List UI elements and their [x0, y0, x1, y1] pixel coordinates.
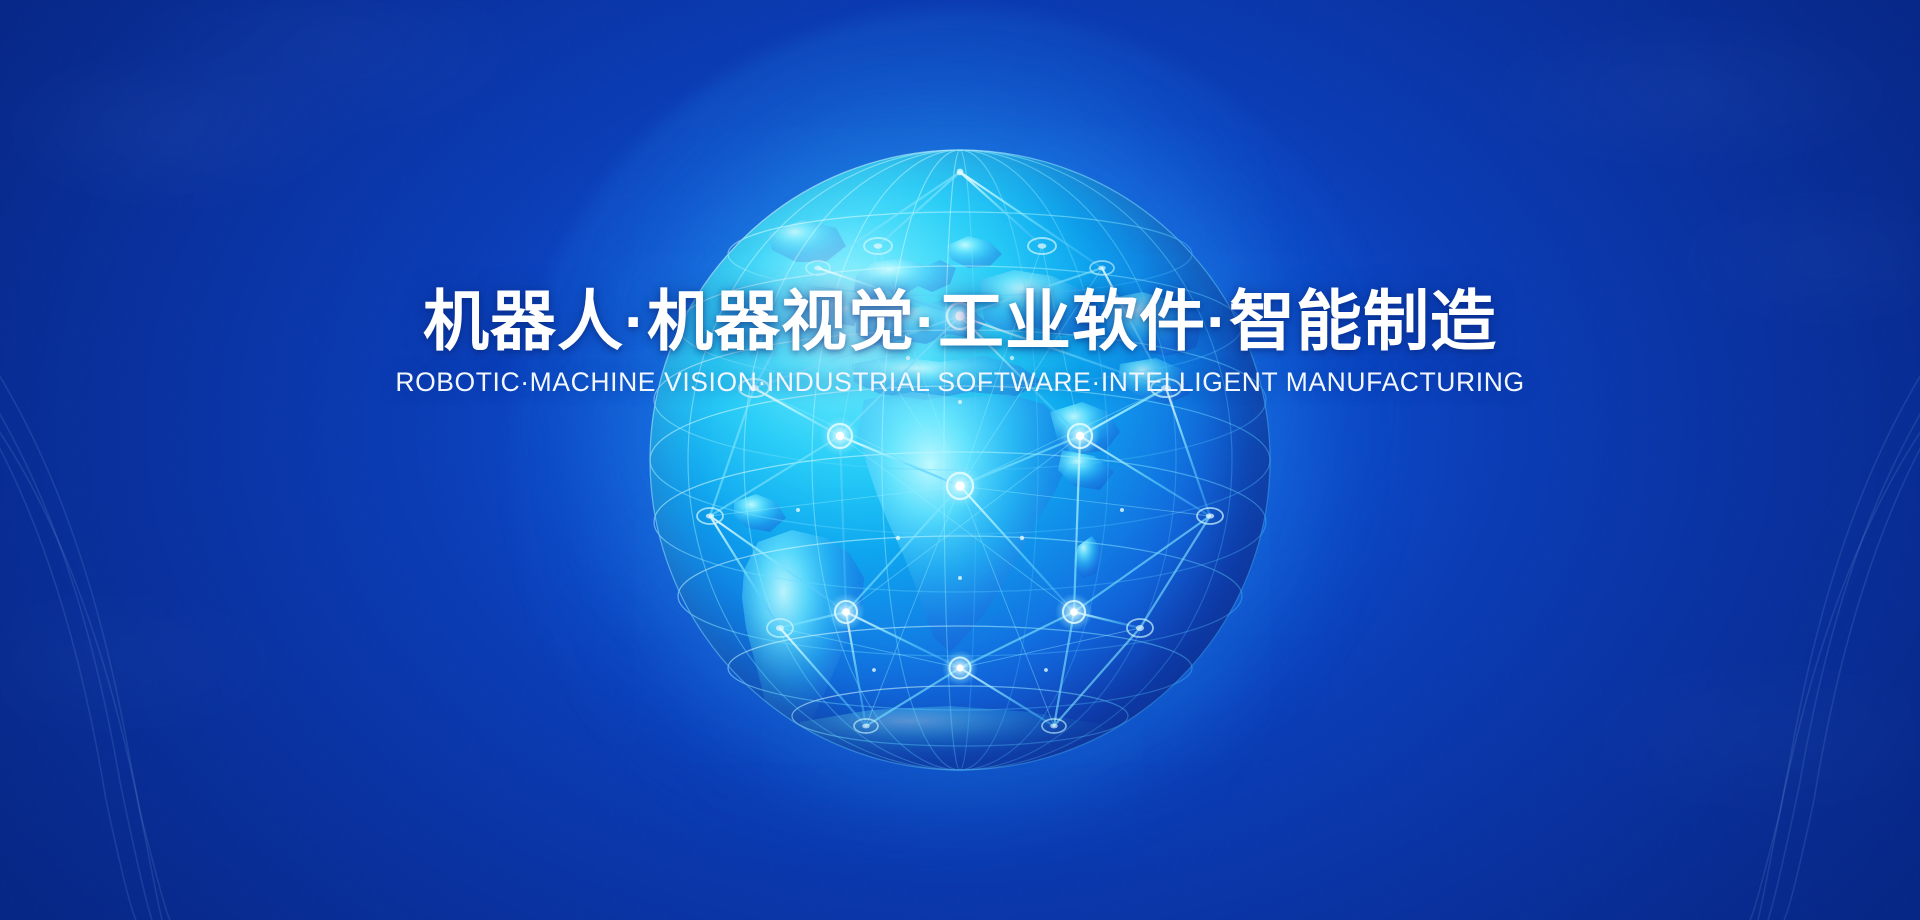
- banner-text-block: 机器人·机器视觉·工业软件·智能制造 ROBOTIC·MACHINE VISIO…: [0, 288, 1920, 397]
- banner-headline: 机器人·机器视觉·工业软件·智能制造: [0, 288, 1920, 354]
- hero-banner: 机器人·机器视觉·工业软件·智能制造 ROBOTIC·MACHINE VISIO…: [0, 0, 1920, 920]
- globe-wireframe-network: [650, 150, 1270, 770]
- globe-graphic: [650, 150, 1270, 770]
- banner-subheadline: ROBOTIC·MACHINE VISION·INDUSTRIAL SOFTWA…: [0, 368, 1920, 397]
